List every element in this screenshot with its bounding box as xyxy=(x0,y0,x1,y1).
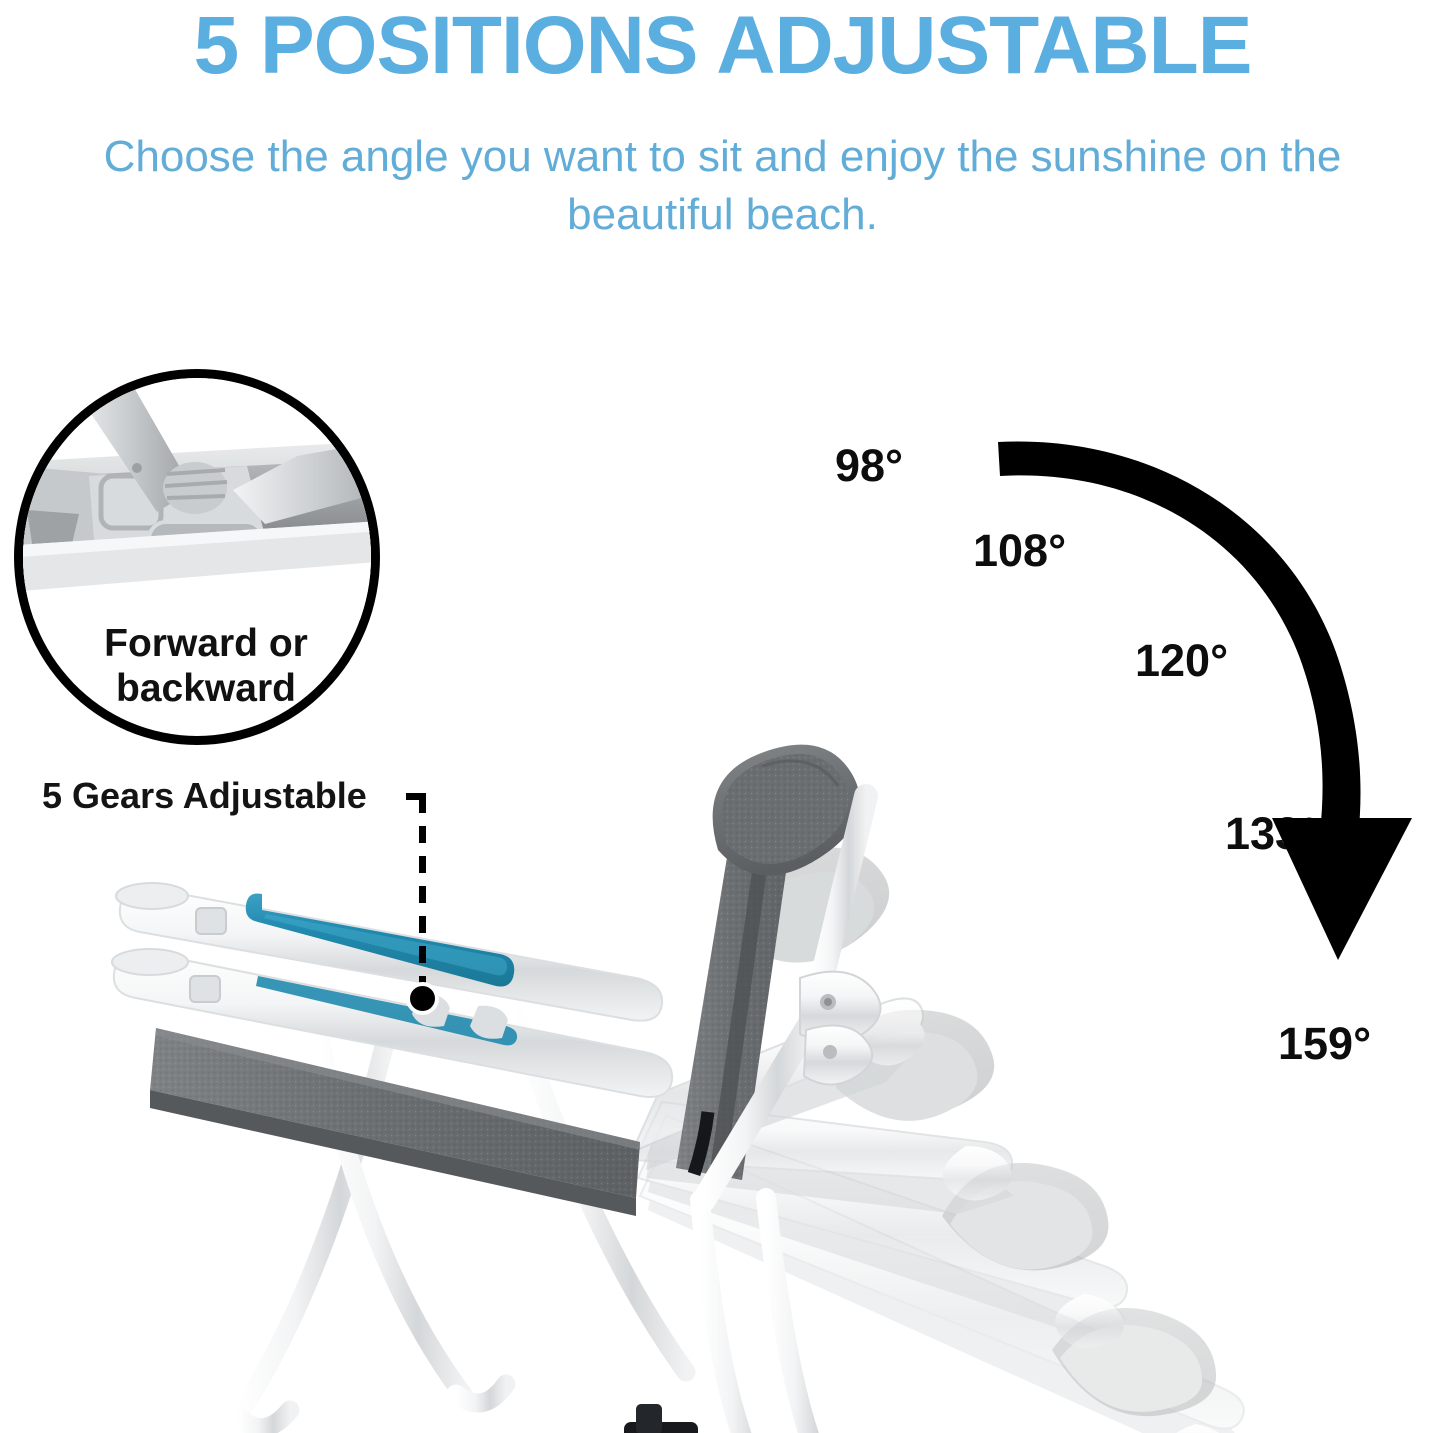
hinge-detail-inset: Forward or backward xyxy=(14,369,380,745)
leader-line-dashed xyxy=(419,796,426,996)
page-title: 5 POSITIONS ADJUSTABLE xyxy=(0,2,1445,90)
main-chair-98 xyxy=(112,745,881,1433)
infographic-page: 5 POSITIONS ADJUSTABLE Choose the angle … xyxy=(0,0,1445,1433)
recline-direction-arrow xyxy=(960,420,1445,960)
angle-label-159: 159° xyxy=(1278,1018,1371,1070)
inset-caption: Forward or backward xyxy=(23,621,380,711)
hinge-mechanism-photo xyxy=(14,370,380,620)
page-subtitle: Choose the angle you want to sit and enj… xyxy=(40,128,1405,244)
gears-adjustable-label: 5 Gears Adjustable xyxy=(42,775,367,817)
leader-line-dot xyxy=(406,982,439,1015)
angle-label-98: 98° xyxy=(835,440,903,492)
